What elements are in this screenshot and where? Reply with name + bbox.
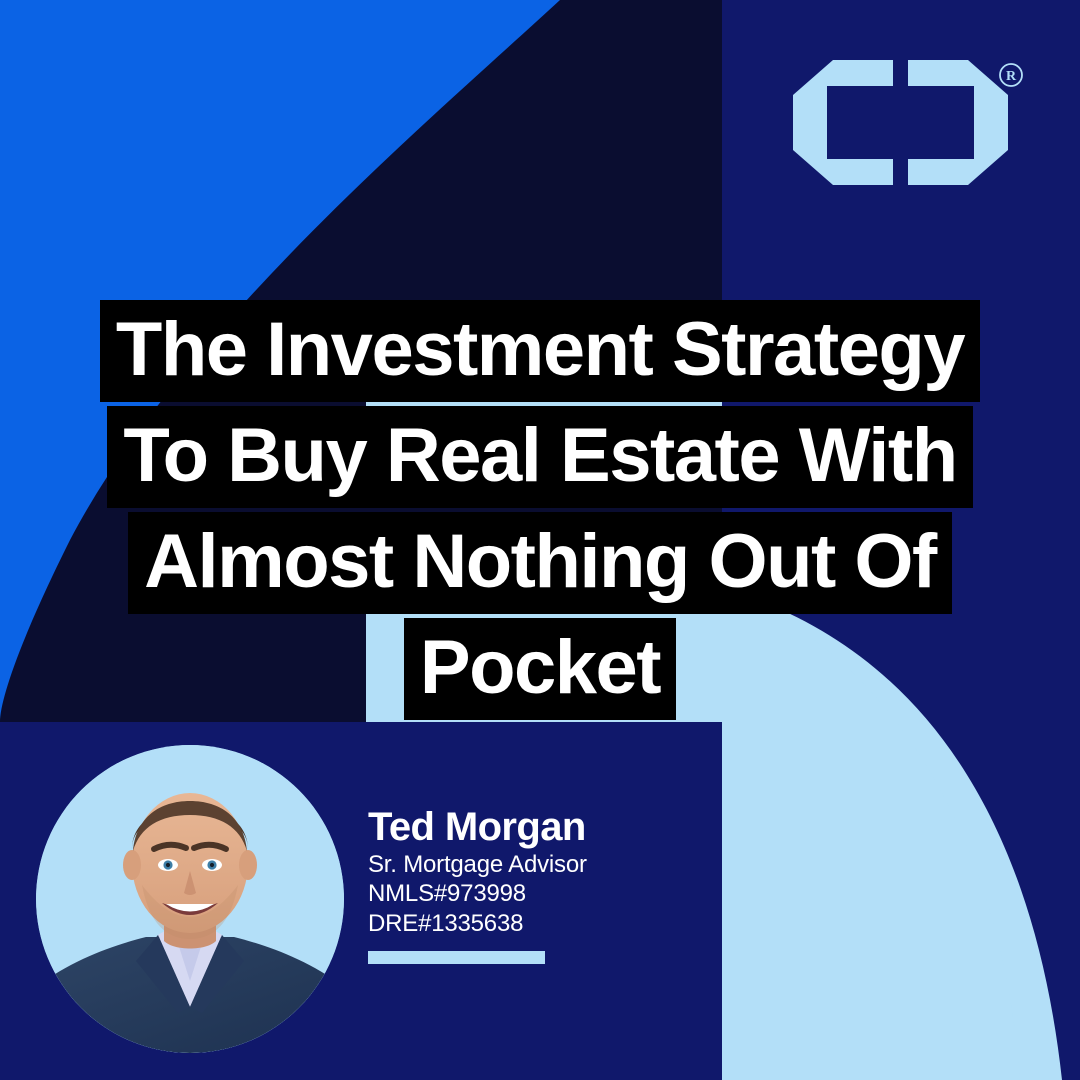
headline-text-2: To Buy Real Estate With [107,406,972,508]
presenter-nmls: NMLS#973998 [368,879,788,908]
presenter-info: Ted Morgan Sr. Mortgage Advisor NMLS#973… [368,806,788,964]
brand-logo: R [793,60,1008,185]
svg-text:R: R [1006,69,1017,84]
headline-block: The Investment Strategy To Buy Real Esta… [0,300,1080,724]
headline-line-4: Pocket [0,618,1080,720]
registered-trademark-icon: R [998,62,1024,88]
presenter-name: Ted Morgan [368,806,788,848]
bracket-pair-logo-icon [793,60,1008,185]
presenter-dre: DRE#1335638 [368,909,788,938]
presenter-title: Sr. Mortgage Advisor [368,850,788,879]
headline-text-4: Pocket [404,618,676,720]
headline-line-3: Almost Nothing Out Of [0,512,1080,614]
social-graphic-canvas: R The Investment Strategy To Buy Real Es… [0,0,1080,1080]
avatar [36,745,344,1053]
headshot-portrait-icon [36,745,344,1053]
headline-line-1: The Investment Strategy [0,300,1080,402]
headline-line-2: To Buy Real Estate With [0,406,1080,508]
headline-text-3: Almost Nothing Out Of [128,512,952,614]
presenter-underline-rule [368,951,545,964]
headline-text-1: The Investment Strategy [100,300,980,402]
